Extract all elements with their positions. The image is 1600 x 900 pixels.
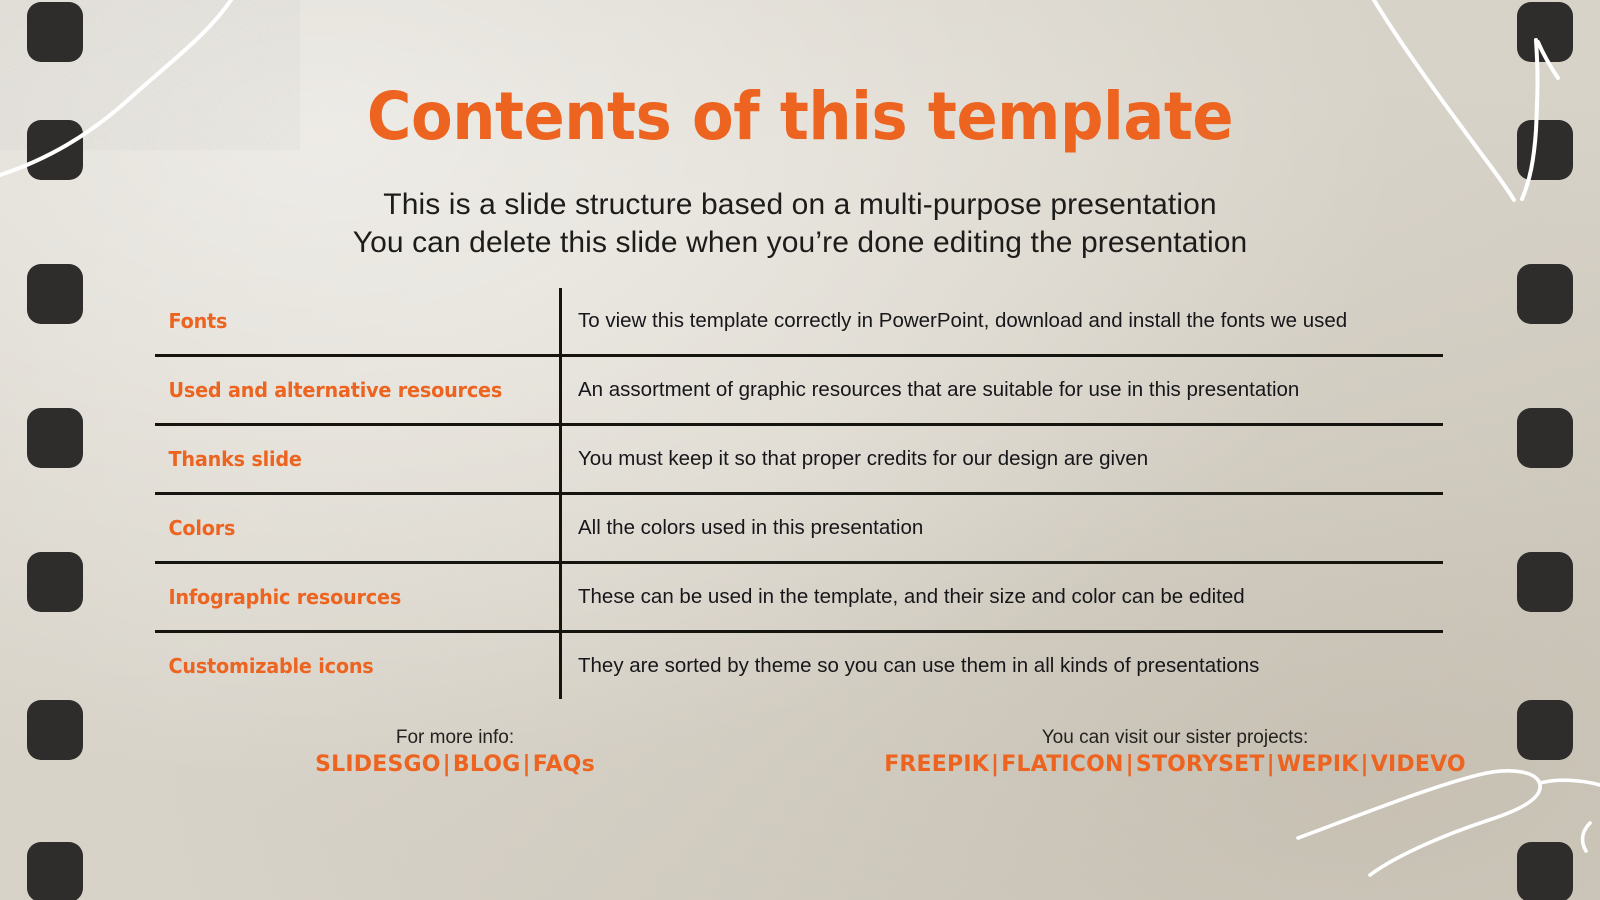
link-videvo[interactable]: VIDEVO [1371,752,1466,777]
table-row-description: To view this template correctly in Power… [561,288,1444,356]
link-flaticon[interactable]: FLATICON [1001,752,1123,777]
subtitle-line-2: You can delete this slide when you’re do… [0,224,1600,262]
contents-table: Fonts To view this template correctly in… [155,288,1443,699]
link-separator: | [1265,752,1277,777]
table-row-label: Colors [155,494,544,563]
link-separator: | [989,752,1001,777]
table-row: Thanks slide You must keep it so that pr… [155,425,1443,494]
footer-more-info-caption: For more info: [245,726,665,750]
footer-more-info: For more info: SLIDESGO|BLOG|FAQs [245,726,665,780]
table-row-description: All the colors used in this presentation [561,494,1444,563]
table-row-label: Thanks slide [155,425,544,494]
page-title: Contents of this template [64,78,1536,155]
table-row-label: Infographic resources [155,563,544,632]
footer-more-info-links: SLIDESGO|BLOG|FAQs [245,750,665,780]
table-row: Colors All the colors used in this prese… [155,494,1443,563]
link-storyset[interactable]: STORYSET [1136,752,1265,777]
table-row-label: Fonts [155,288,544,356]
footer-sister-projects-caption: You can visit our sister projects: [830,726,1520,750]
slide-subtitle: This is a slide structure based on a mul… [0,186,1600,262]
table-row-description: They are sorted by theme so you can use … [561,632,1444,700]
slide-canvas: Contents of this template This is a slid… [0,0,1600,900]
link-separator: | [1359,752,1371,777]
link-separator: | [520,752,532,777]
table-row-label: Used and alternative resources [155,356,544,425]
table-row-description: These can be used in the template, and t… [561,563,1444,632]
table-row: Used and alternative resources An assort… [155,356,1443,425]
link-blog[interactable]: BLOG [453,752,521,777]
table-row: Infographic resources These can be used … [155,563,1443,632]
subtitle-line-1: This is a slide structure based on a mul… [0,186,1600,224]
link-separator: | [441,752,453,777]
link-separator: | [1124,752,1136,777]
link-faqs[interactable]: FAQs [533,752,595,777]
footer-sister-projects: You can visit our sister projects: FREEP… [830,726,1520,780]
table-row-label: Customizable icons [155,632,544,700]
table-row-description: You must keep it so that proper credits … [561,425,1444,494]
table-row-description: An assortment of graphic resources that … [561,356,1444,425]
link-freepik[interactable]: FREEPIK [884,752,989,777]
link-slidesgo[interactable]: SLIDESGO [315,752,441,777]
table-row: Fonts To view this template correctly in… [155,288,1443,356]
link-wepik[interactable]: WEPIK [1277,752,1359,777]
table-row: Customizable icons They are sorted by th… [155,632,1443,700]
footer-sister-projects-links: FREEPIK|FLATICON|STORYSET|WEPIK|VIDEVO [830,750,1520,780]
